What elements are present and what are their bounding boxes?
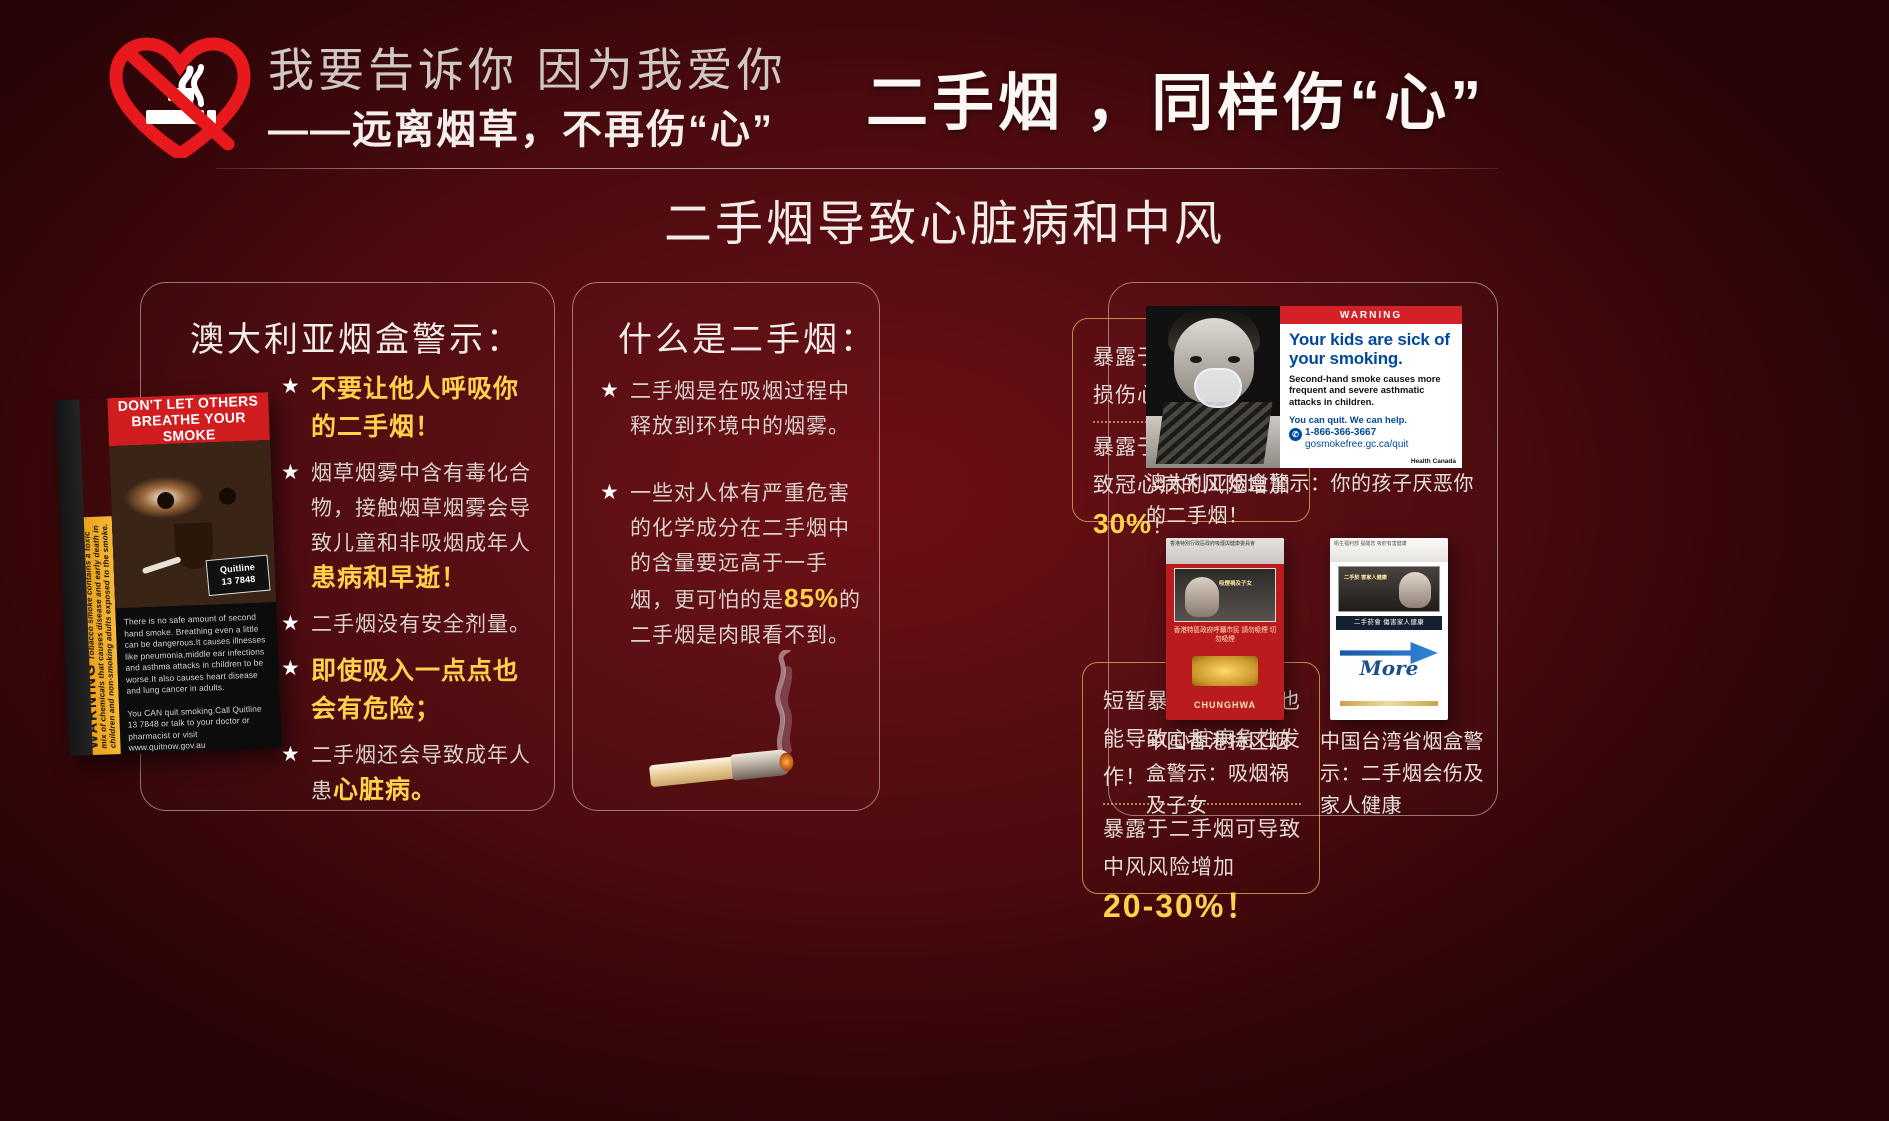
- pack-body-text: There is no safe amount of second hand s…: [115, 602, 281, 754]
- pack-body-cta: You CAN quit smoking.Call Quitline 13 78…: [127, 703, 274, 754]
- tw-pack-brand: More: [1330, 656, 1448, 680]
- health-canada-headline: Your kids are sick of your smoking.: [1289, 330, 1454, 368]
- child-eye-left: [1190, 356, 1202, 363]
- star-icon: ★: [281, 738, 311, 772]
- bullet-item: ★ 二手烟还会导致成年人患心脏病。: [281, 738, 543, 809]
- health-canada-footer: Health Canada: [1411, 458, 1456, 465]
- star-icon: ★: [281, 456, 311, 490]
- bullet-emphasis: 患病和早逝！: [311, 564, 467, 592]
- health-canada-child-photo: [1146, 306, 1280, 468]
- poster-subtitle: 二手烟导致心脏病和中风: [0, 184, 1889, 254]
- caption-hk-pack: 中国香港特区烟盒警示：吸烟祸及子女: [1146, 726, 1306, 822]
- slogan-block: 我要告诉你 因为我爱你 ——远离烟草，不再伤“心”: [268, 42, 787, 154]
- bullet-item: ★ 即使吸入一点点也会有危险；: [281, 652, 543, 728]
- bullet-item: ★ 二手烟是在吸烟过程中释放到环境中的烟雾。: [600, 374, 862, 444]
- photo-eye-right: [219, 487, 237, 505]
- pack-face-photo: Quitline 13 7848: [109, 440, 276, 608]
- bullet-text: 即使吸入一点点也会有危险；: [311, 652, 543, 728]
- pack-warning-headline: DON'T LET OTHERS BREATHE YOUR SMOKE: [107, 392, 270, 446]
- nebulizer-mask-icon: [1194, 368, 1242, 408]
- tw-pack-photo-caption: 二手菸 害家人健康: [1344, 575, 1396, 582]
- hk-pack-photo-child: [1185, 577, 1219, 617]
- hk-pack-top-band: 香港特別行政區政府吸煙與健康委員會: [1166, 538, 1284, 564]
- caption-tw-pack: 中国台湾省烟盒警示：二手烟会伤及家人健康: [1320, 726, 1490, 822]
- pack-front-face: DON'T LET OTHERS BREATHE YOUR SMOKE Quit…: [107, 392, 282, 754]
- cigarette-paper: [649, 756, 739, 787]
- tw-pack-warning-photo: 二手菸 害家人健康: [1338, 566, 1440, 612]
- tw-pack-photo-person: [1399, 572, 1431, 608]
- card-australia-bullets: ★ 不要让他人呼吸你的二手烟！ ★ 烟草烟雾中含有毒化合物，接触烟草烟雾会导致儿…: [281, 370, 543, 819]
- info-box-line-b-post: ！: [1225, 888, 1259, 924]
- hk-pack-photo-caption: 吸煙禍及子女: [1219, 581, 1269, 588]
- australia-cigarette-pack-image: WARNING Tobacco smoke contains a toxic m…: [55, 392, 282, 756]
- card-what-is-shs-title: 什么是二手烟：: [618, 312, 877, 361]
- star-icon: ★: [281, 652, 311, 686]
- pack-body-paragraph: There is no safe amount of second hand s…: [124, 611, 272, 697]
- tw-pack-gold-line: [1340, 701, 1438, 706]
- info-box-line-b-pre: 暴露于二手烟可导致中风风险增加: [1103, 818, 1301, 879]
- caption-canada-pack: 澳大利亚烟盒警示：你的孩子厌恶你的二手烟！: [1146, 468, 1476, 532]
- tw-pack-top-text: 衛生福利部 提醒您 吸菸有害健康: [1330, 538, 1448, 550]
- bullet-emphasis: 心脏病。: [333, 776, 437, 804]
- card-what-bullets: ★ 二手烟是在吸烟过程中释放到环境中的烟雾。 ★ 一些对人体有严重危害的化学成分…: [600, 374, 862, 663]
- photo-eye-left: [157, 492, 175, 510]
- bullet-text: 二手烟是在吸烟过程中释放到环境中的烟雾。: [630, 374, 862, 444]
- smoke-icon: [758, 650, 804, 756]
- slogan-line-2: ——远离烟草，不再伤“心”: [268, 106, 787, 154]
- cigarette-body: [649, 751, 791, 792]
- heart-no-smoking-icon: [106, 36, 254, 158]
- health-canada-text-panel: WARNING Your kids are sick of your smoki…: [1280, 306, 1462, 468]
- pack-quitline-badge: Quitline 13 7848: [206, 555, 271, 596]
- health-canada-phone: 1-866-366-3667: [1305, 427, 1376, 438]
- phone-icon: ✆: [1289, 428, 1302, 441]
- hong-kong-cigarette-pack: 香港特別行政區政府吸煙與健康委員會 吸煙禍及子女 香港特區政府呼籲市民 請勿吸煙…: [1166, 538, 1284, 720]
- poster-header: 我要告诉你 因为我爱你 ——远离烟草，不再伤“心” 二手烟 ，同样伤“心” 二手…: [0, 0, 1889, 205]
- pack-red-warning-bar: DON'T LET OTHERS BREATHE YOUR SMOKE: [107, 392, 270, 446]
- header-divider: [216, 168, 1498, 169]
- info-box-percentage: 20-30%: [1103, 888, 1225, 924]
- hk-pack-top-text: 香港特別行政區政府吸煙與健康委員會: [1166, 538, 1284, 550]
- bullet-text: 不要让他人呼吸你的二手烟！: [311, 370, 543, 446]
- bullet-emphasis: 85%: [784, 583, 839, 613]
- bullet-item: ★ 二手烟没有安全剂量。: [281, 607, 543, 642]
- star-icon: ★: [600, 476, 630, 510]
- card-australia-title: 澳大利亚烟盒警示：: [190, 312, 523, 361]
- star-icon: ★: [600, 374, 630, 408]
- health-canada-subtext: Second-hand smoke causes more frequent a…: [1289, 373, 1454, 407]
- child-overall-strap: [1156, 402, 1273, 464]
- photo-cigarette: [142, 556, 182, 574]
- star-icon: ★: [281, 370, 311, 404]
- poster-root: 我要告诉你 因为我爱你 ——远离烟草，不再伤“心” 二手烟 ，同样伤“心” 二手…: [0, 0, 1889, 1121]
- hk-pack-warning-photo: 吸煙禍及子女: [1174, 568, 1276, 622]
- poster-headline: 二手烟 ，同样伤“心”: [866, 52, 1485, 142]
- star-icon: ★: [281, 607, 311, 641]
- tw-pack-warning-text: 二手菸會 傷害家人健康: [1336, 616, 1442, 630]
- health-canada-url: gosmokefree.gc.ca/quit: [1305, 439, 1408, 450]
- lit-cigarette-icon: [640, 650, 840, 810]
- bullet-item: ★ 不要让他人呼吸你的二手烟！: [281, 370, 543, 446]
- tw-pack-top-band: 衛生福利部 提醒您 吸菸有害健康: [1330, 538, 1448, 562]
- child-eye-right: [1228, 356, 1240, 363]
- bullet-item: ★ 一些对人体有严重危害的化学成分在二手烟中的含量要远高于一手烟，更可怕的是85…: [600, 476, 862, 653]
- health-canada-warning-label: WARNING Your kids are sick of your smoki…: [1146, 306, 1462, 468]
- hk-pack-brand: CHUNGHWA: [1166, 700, 1284, 710]
- bullet-item: ★ 烟草烟雾中含有毒化合物，接触烟草烟雾会导致儿童和非吸烟成年人患病和早逝！: [281, 456, 543, 597]
- hk-pack-gold-emblem: [1192, 656, 1258, 686]
- health-canada-quit-line: You can quit. We can help.: [1289, 414, 1454, 425]
- slogan-line-1: 我要告诉你 因为我爱你: [268, 42, 787, 100]
- bullet-text: 烟草烟雾中含有毒化合物，接触烟草烟雾会导致儿童和非吸烟成年人: [311, 462, 531, 555]
- taiwan-cigarette-pack: 衛生福利部 提醒您 吸菸有害健康 二手菸 害家人健康 二手菸會 傷害家人健康 M…: [1330, 538, 1448, 720]
- hk-pack-warning-text: 香港特區政府呼籲市民 請勿吸煙 切勿吸煙: [1172, 626, 1278, 644]
- bullet-text: 二手烟没有安全剂量。: [311, 607, 531, 642]
- health-canada-warning-bar: WARNING: [1280, 306, 1462, 324]
